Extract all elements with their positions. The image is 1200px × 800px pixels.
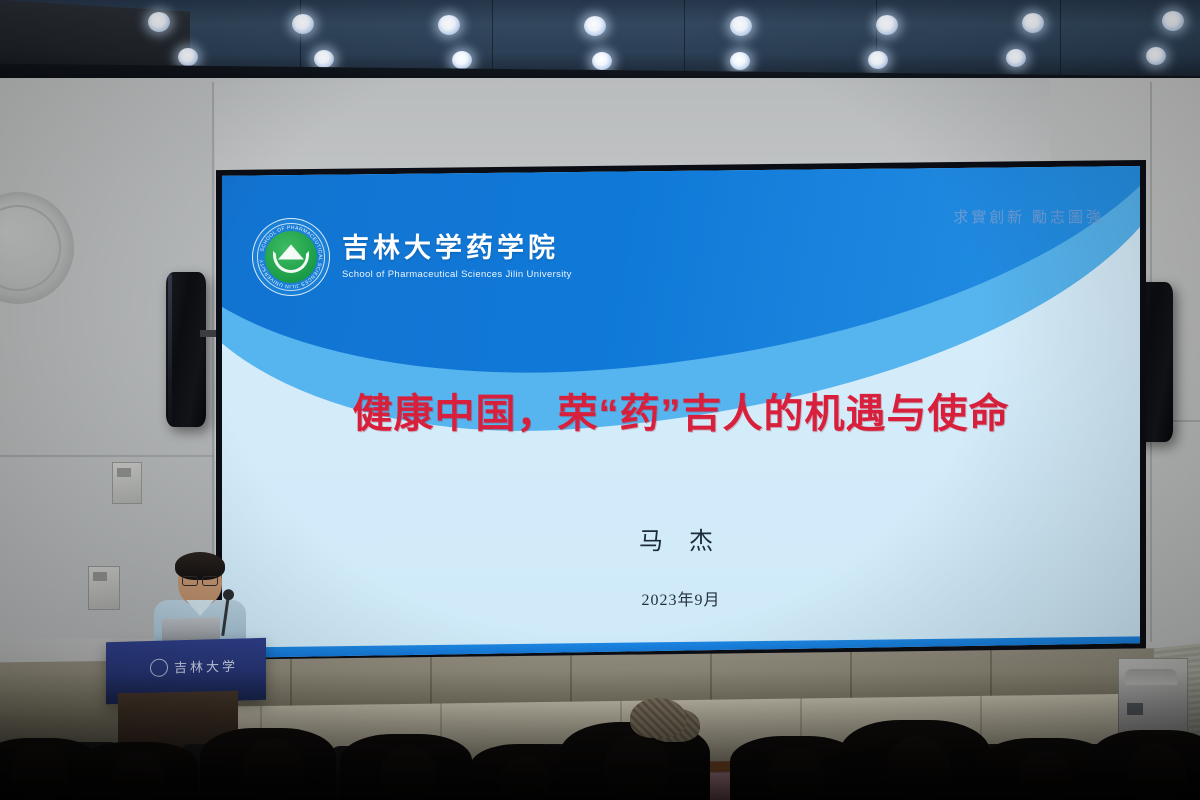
ceiling-light <box>592 52 612 70</box>
audience-head <box>604 734 670 800</box>
audience-head <box>380 746 436 800</box>
slide-motto: 求實創新 勵志圖強 <box>953 206 1104 227</box>
audience-row <box>0 680 1200 800</box>
audience-head <box>10 744 68 800</box>
wall-seam <box>0 455 214 457</box>
ceiling-light <box>584 16 606 36</box>
ceiling-light <box>292 14 314 34</box>
slide-author: 马 杰 <box>222 521 1140 556</box>
slide-logo-block: SCHOOL OF PHARMACEUTICAL SCIENCES JILIN … <box>252 218 572 296</box>
audience-head <box>1128 744 1186 800</box>
ceiling-light <box>1162 11 1184 31</box>
slide-school-name-cn: 吉林大学药学院 <box>342 234 572 264</box>
ceiling-seam <box>1060 0 1061 86</box>
ceiling-light <box>1006 49 1026 67</box>
slide-school-name-en: School of Pharmaceutical Sciences Jilin … <box>342 269 572 280</box>
wall-speaker-left <box>166 272 206 427</box>
presenter-glasses <box>182 576 218 584</box>
ceiling-light <box>868 51 888 69</box>
crest-emblem <box>265 231 317 283</box>
ceiling-light <box>876 15 898 35</box>
auditorium-photo: SCHOOL OF PHARMACEUTICAL SCIENCES JILIN … <box>0 0 1200 800</box>
podium-emblem-icon <box>150 659 168 678</box>
audience-head <box>500 756 550 800</box>
audience-head <box>1018 750 1072 800</box>
ceiling-light <box>314 50 334 68</box>
podium-label: 吉林大学 <box>174 656 238 677</box>
ceiling-light <box>452 51 472 69</box>
presentation-slide: SCHOOL OF PHARMACEUTICAL SCIENCES JILIN … <box>222 166 1140 658</box>
slide-title: 健康中国，荣“药”吉人的机遇与使命 <box>222 381 1140 439</box>
ceiling-light <box>730 16 752 36</box>
ceiling-light <box>1146 47 1166 65</box>
ceiling-light <box>1022 13 1044 33</box>
ceiling-light <box>178 48 198 66</box>
ceiling-light <box>730 52 750 70</box>
audience-head <box>886 736 950 800</box>
slide-date: 2023年9月 <box>222 586 1140 610</box>
wall-panel-box <box>88 566 120 610</box>
ceiling-light <box>438 15 460 35</box>
ceiling-light <box>148 12 170 32</box>
audience-head <box>768 748 824 800</box>
school-crest-icon: SCHOOL OF PHARMACEUTICAL SCIENCES JILIN … <box>252 218 330 296</box>
wall-outlet-box <box>112 462 142 504</box>
audience-head <box>112 752 164 800</box>
audience-head <box>242 738 304 800</box>
speaker-bracket <box>200 330 216 337</box>
